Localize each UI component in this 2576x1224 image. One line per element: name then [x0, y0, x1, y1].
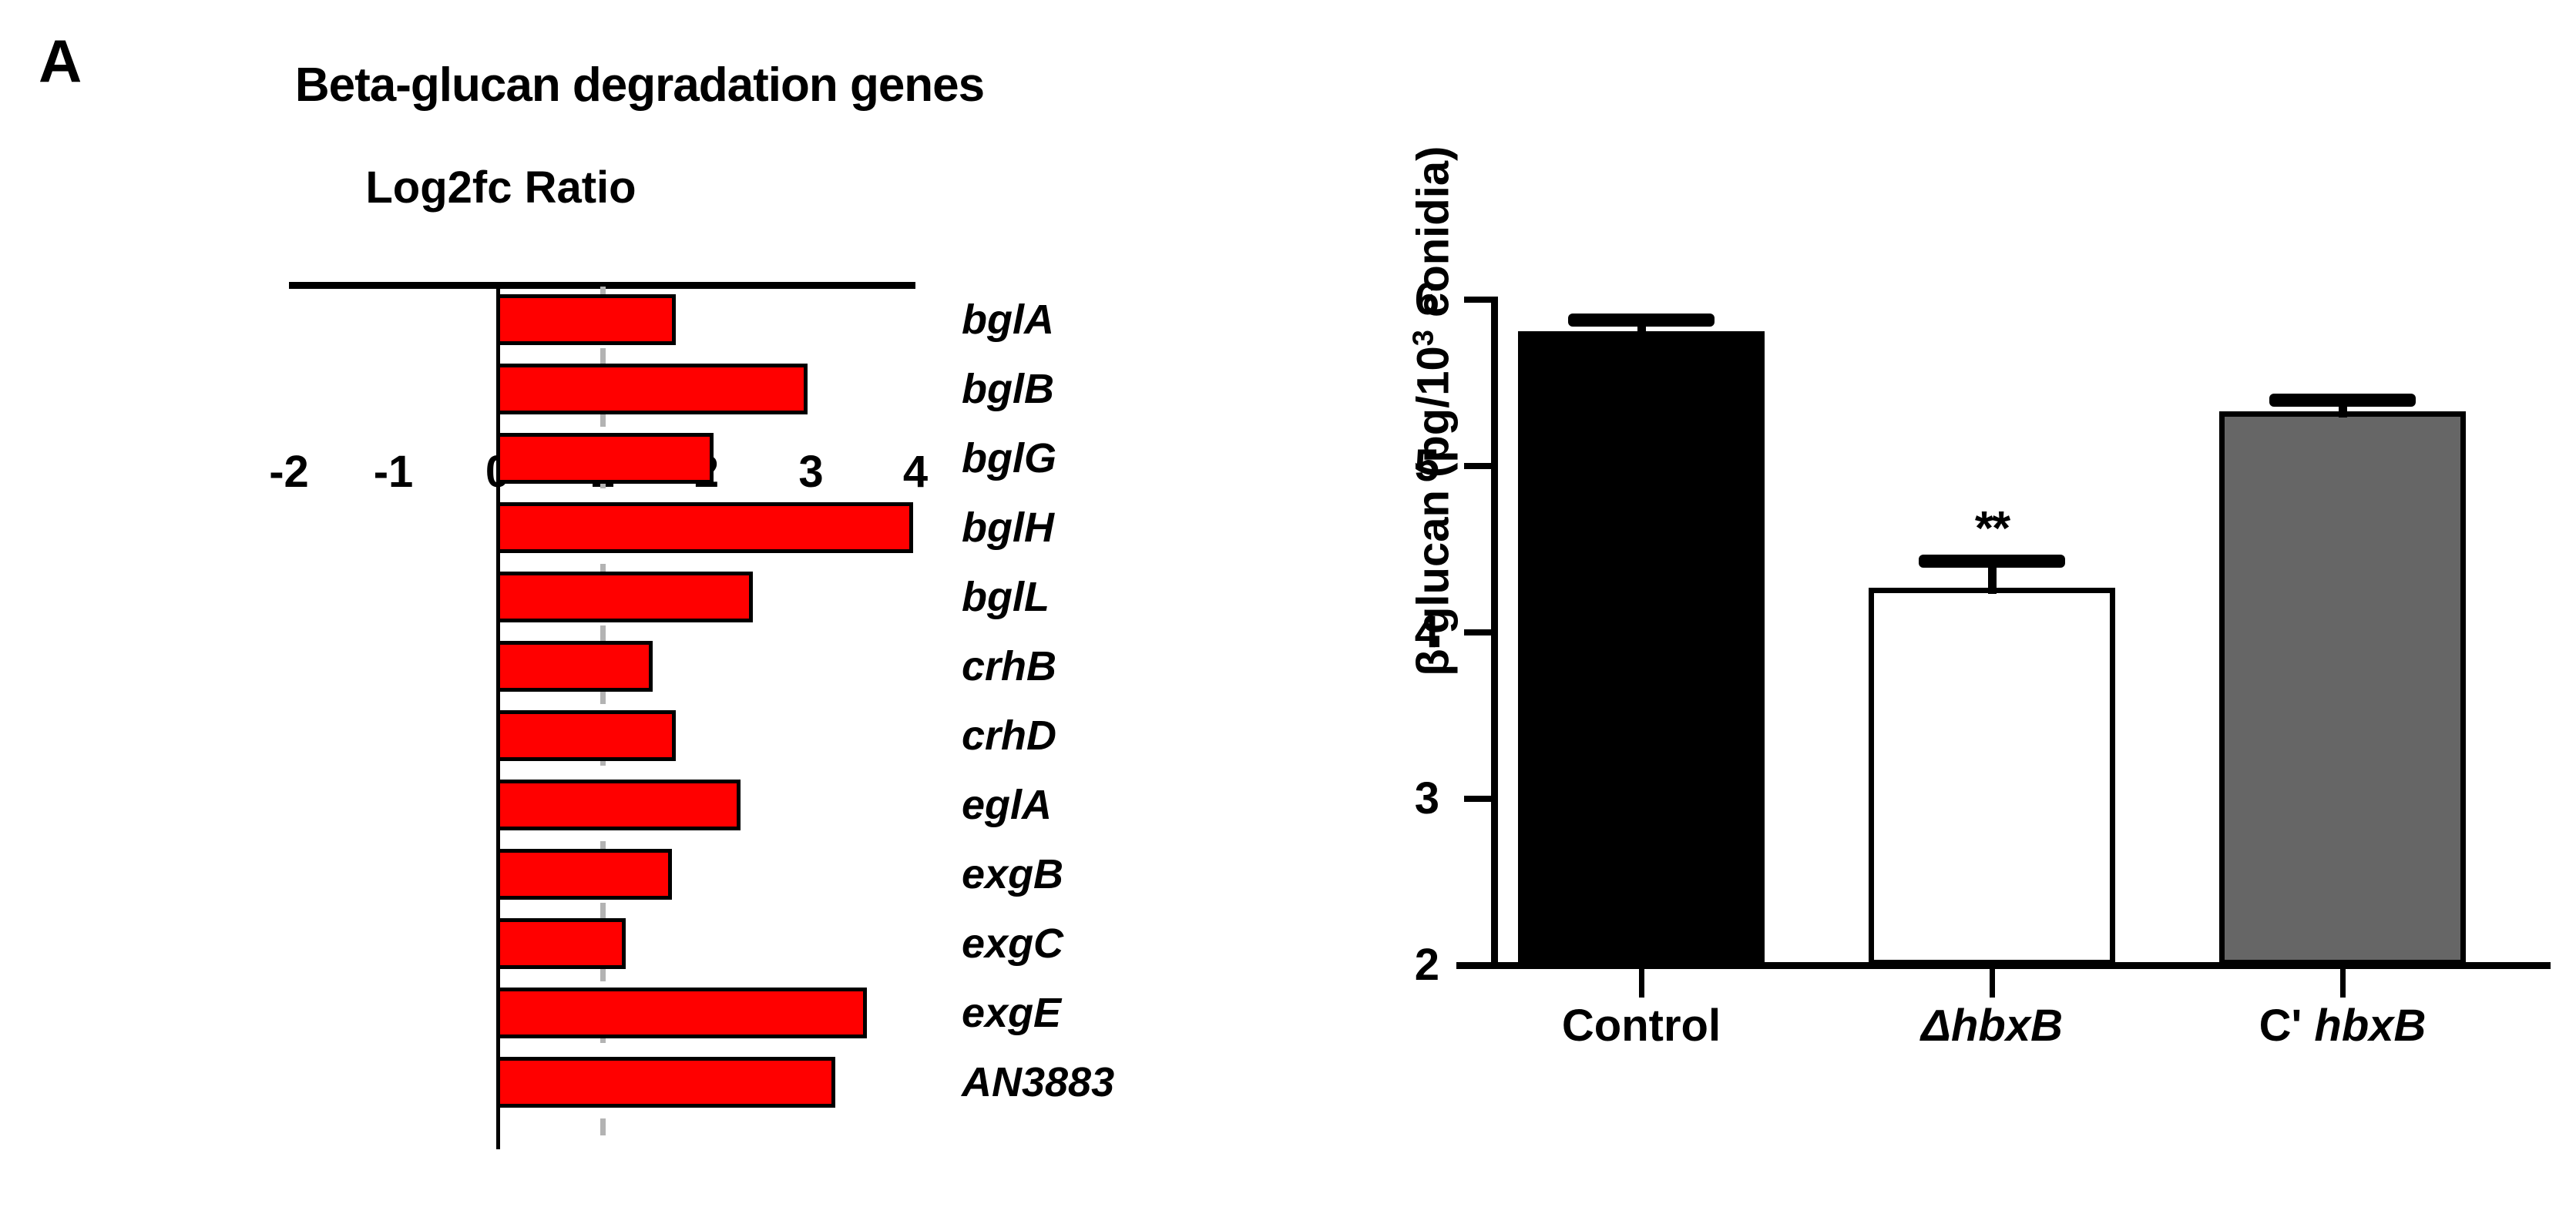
figure-root: A Beta-glucan degradation genes Log2fc R…: [0, 0, 2576, 1224]
panel-a-bar-bglH: [496, 502, 913, 553]
panel-b-bar-delta-hbxb: [1869, 588, 2115, 965]
panel-a-bar-bglA: [496, 294, 676, 345]
panel-a-bar-row: [496, 988, 867, 1038]
panel-a-bar-row: [496, 294, 676, 345]
panel-a-bar-exgE: [496, 988, 867, 1038]
panel-b-errorbar-cap: [1919, 555, 2065, 568]
panel-b-xtick-mark: [2340, 968, 2346, 998]
panel-a-bar-row: [496, 641, 653, 692]
panel-b-ytick-mark-4: [1464, 629, 1495, 635]
panel-b-ytick-label-3: 3: [1415, 776, 1439, 821]
panel-b-errorbar-cap: [1568, 314, 1715, 327]
panel-b-xtick-label-delta-hbxb: ΔhbxB: [1921, 1001, 2063, 1051]
panel-b-errorbar-cap: [2269, 394, 2416, 407]
panel-b: B β-glucan (pg/103 conidia) 65432 ** Con…: [1271, 0, 2576, 1224]
panel-b-bar-control: [1518, 331, 1765, 965]
panel-a-gene-label-bglA: bglA: [962, 294, 1054, 345]
panel-b-ytick-label-2: 2: [1415, 943, 1439, 988]
panel-a-bar-row: [496, 364, 808, 414]
panel-a-bar-row: [496, 918, 626, 969]
panel-a-bar-row: [496, 433, 714, 484]
panel-a-gene-label-crhB: crhB: [962, 641, 1056, 692]
panel-a-bar-row: [496, 502, 913, 553]
panel-b-ytick-mark-2: [1464, 962, 1495, 968]
panel-a-bar-crhB: [496, 641, 653, 692]
panel-b-xtick-label-c-hbxb: C' hbxB: [2259, 1001, 2427, 1051]
panel-a-bar-AN3883: [496, 1057, 835, 1108]
panel-b-ytick-label-6: 6: [1415, 277, 1439, 322]
panel-b-xtick-mark: [1990, 968, 1995, 998]
panel-b-xtick-mark: [1639, 968, 1644, 998]
panel-a-bar-row: [496, 780, 741, 830]
panel-a-gene-label-crhD: crhD: [962, 710, 1056, 761]
panel-a-gene-label-bglG: bglG: [962, 433, 1056, 484]
panel-a-bar-bglG: [496, 433, 714, 484]
panel-a-bar-row: [496, 572, 753, 622]
panel-a-bar-exgC: [496, 918, 626, 969]
panel-a-gene-label-AN3883: AN3883: [962, 1057, 1114, 1108]
panel-a-bar-exgB: [496, 849, 672, 900]
panel-a-gene-label-bglB: bglB: [962, 364, 1054, 414]
panel-b-bar-c-hbxb: [2219, 411, 2466, 965]
panel-a-gene-label-exgB: exgB: [962, 849, 1063, 900]
panel-b-ytick-label-5: 5: [1415, 444, 1439, 488]
panel-a-bar-bglL: [496, 572, 753, 622]
panel-a-bar-row: [496, 710, 676, 761]
panel-a-gene-label-bglL: bglL: [962, 572, 1050, 622]
panel-a-gene-label-eglA: eglA: [962, 780, 1052, 830]
panel-b-significance-marker: **: [1975, 505, 2009, 553]
panel-a-bar-row: [496, 1057, 835, 1108]
panel-b-ytick-mark-6: [1464, 297, 1495, 303]
panel-a-bar-bglB: [496, 364, 808, 414]
panel-a-gene-label-exgE: exgE: [962, 988, 1061, 1038]
panel-a-bar-group: bglAbglBbglGbglHbglLcrhBcrhDeglAexgBexgC…: [0, 0, 1271, 1224]
panel-a-gene-label-exgC: exgC: [962, 918, 1063, 969]
panel-b-ytick-mark-5: [1464, 463, 1495, 469]
panel-b-ytick-mark-3: [1464, 796, 1495, 802]
panel-b-ytick-label-4: 4: [1415, 610, 1439, 655]
panel-a-bar-eglA: [496, 780, 741, 830]
panel-b-xtick-label-control: Control: [1562, 1001, 1721, 1051]
panel-a-gene-label-bglH: bglH: [962, 502, 1054, 553]
panel-a: A Beta-glucan degradation genes Log2fc R…: [0, 0, 1271, 1224]
panel-a-bar-crhD: [496, 710, 676, 761]
panel-a-bar-row: [496, 849, 672, 900]
